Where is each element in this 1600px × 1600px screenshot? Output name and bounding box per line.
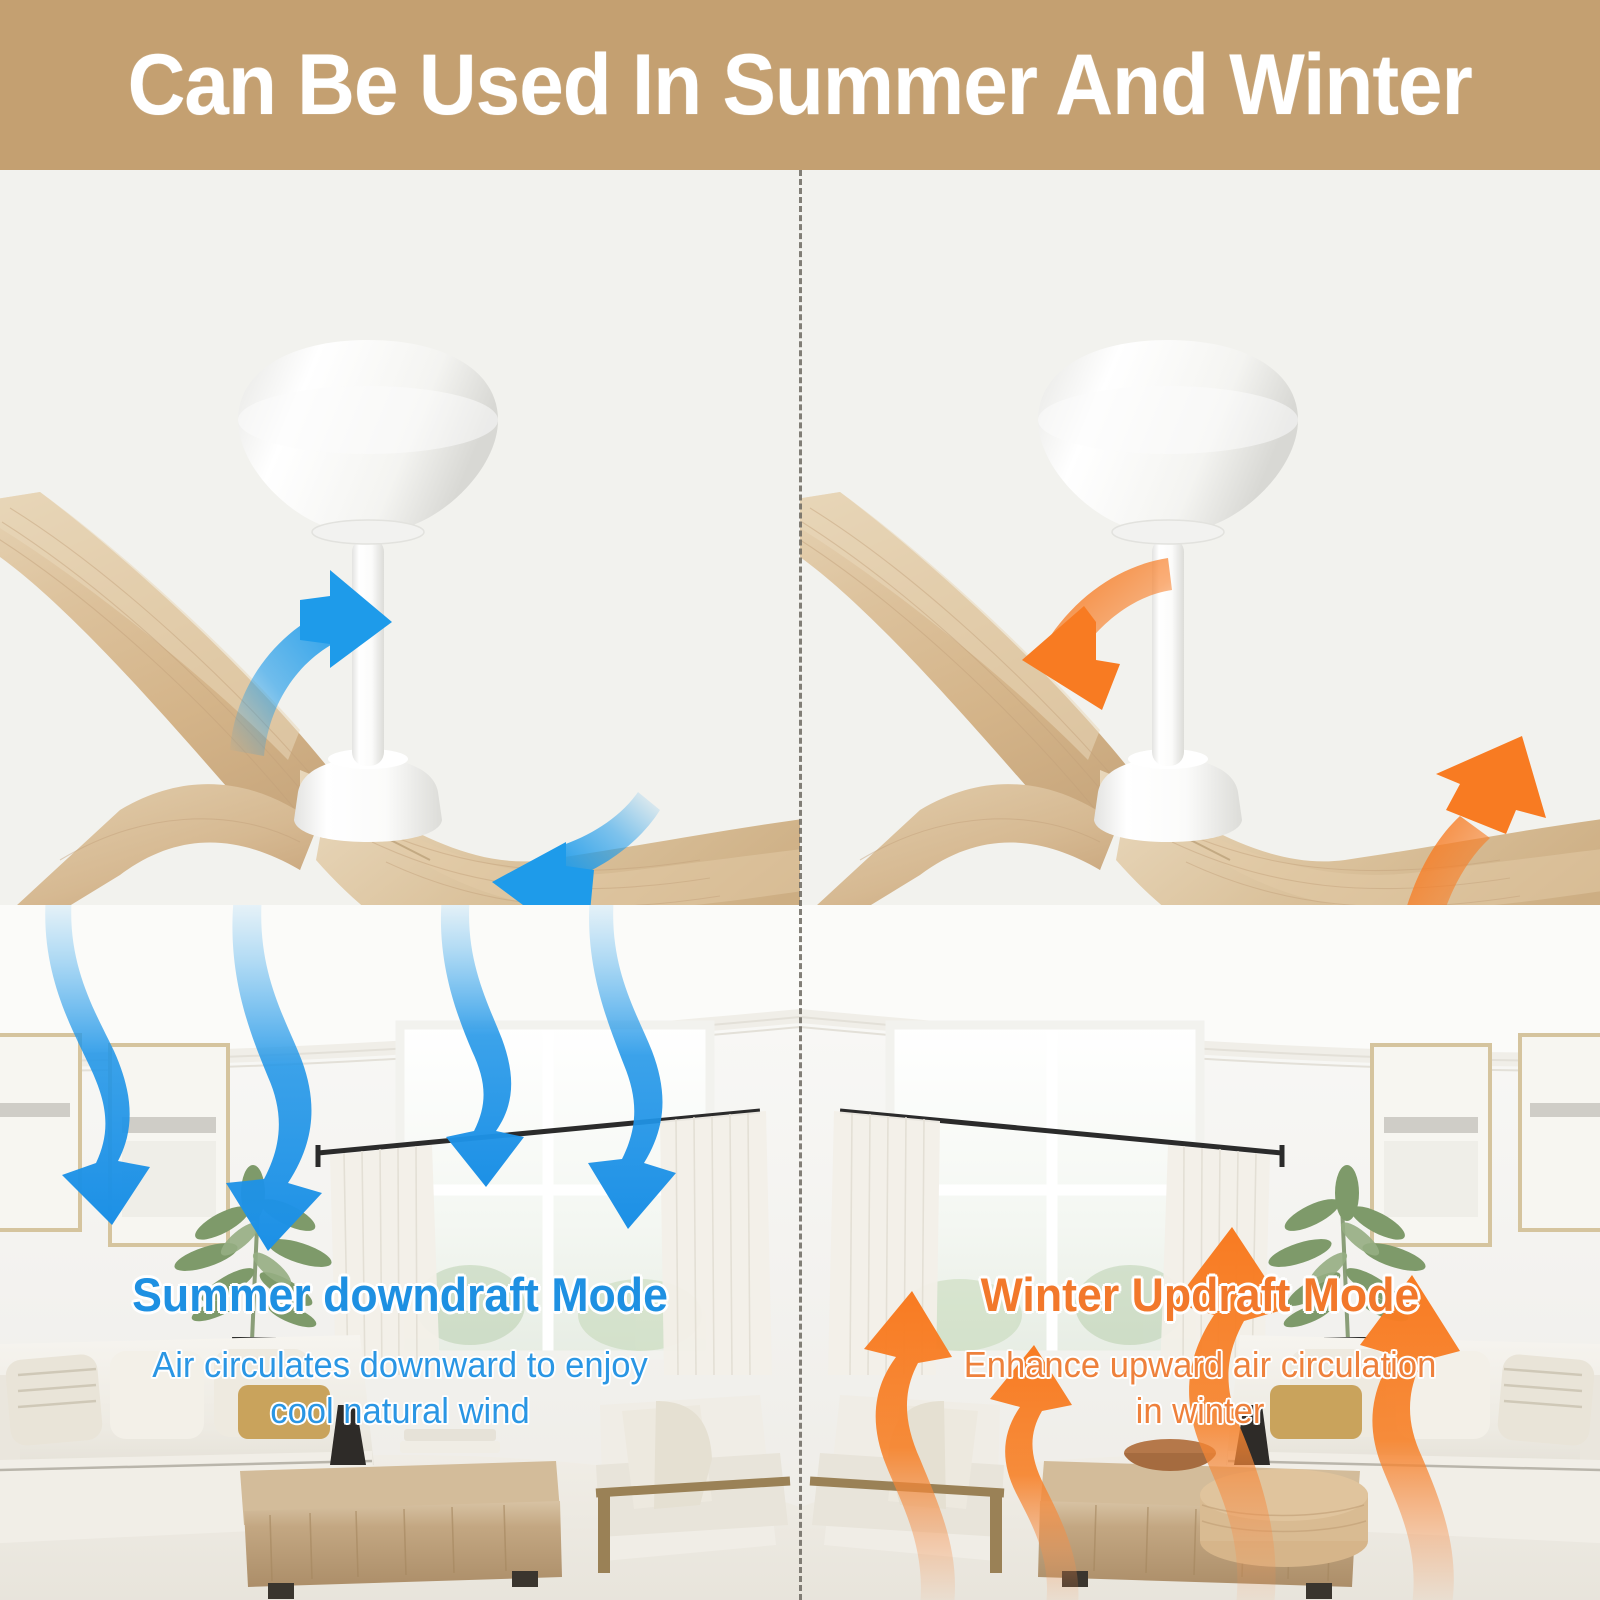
mode-description-summer-line2: cool natural wind <box>16 1389 784 1433</box>
room-scene-summer <box>0 905 800 1600</box>
mode-description-summer-line1: Air circulates downward to enjoy <box>16 1343 784 1387</box>
coffee-table <box>240 1461 562 1599</box>
caption-summer: Summer downdraft Mode Air circulates dow… <box>0 1270 800 1433</box>
panel-summer: Summer downdraft Mode Air circulates dow… <box>0 170 800 1600</box>
mode-description-winter-line1: Enhance upward air circulation <box>816 1343 1584 1387</box>
fan-downrod <box>352 538 384 766</box>
fan-motor-housing <box>1094 758 1242 842</box>
fan-scene-winter <box>800 170 1600 930</box>
mode-description-winter-line2: in winter <box>816 1389 1584 1433</box>
living-room-illustration-winter <box>800 905 1600 1600</box>
panel-winter: Winter Updraft Mode Enhance upward air c… <box>800 170 1600 1600</box>
ceiling-fan-diagram-winter <box>800 170 1600 930</box>
page-title: Can Be Used In Summer And Winter <box>128 36 1472 135</box>
living-room-illustration-summer <box>0 905 800 1600</box>
ceiling-fan-diagram-summer <box>0 170 800 930</box>
wall-art-right <box>1372 1035 1600 1245</box>
room-scene-winter <box>800 905 1600 1600</box>
fan-scene-summer <box>0 170 800 930</box>
caption-winter: Winter Updraft Mode Enhance upward air c… <box>800 1270 1600 1433</box>
fan-motor-housing <box>294 758 442 842</box>
mode-title-winter: Winter Updraft Mode <box>820 1270 1580 1321</box>
mode-title-summer: Summer downdraft Mode <box>20 1270 780 1321</box>
header-banner: Can Be Used In Summer And Winter <box>0 0 1600 170</box>
panel-divider <box>799 170 802 1600</box>
